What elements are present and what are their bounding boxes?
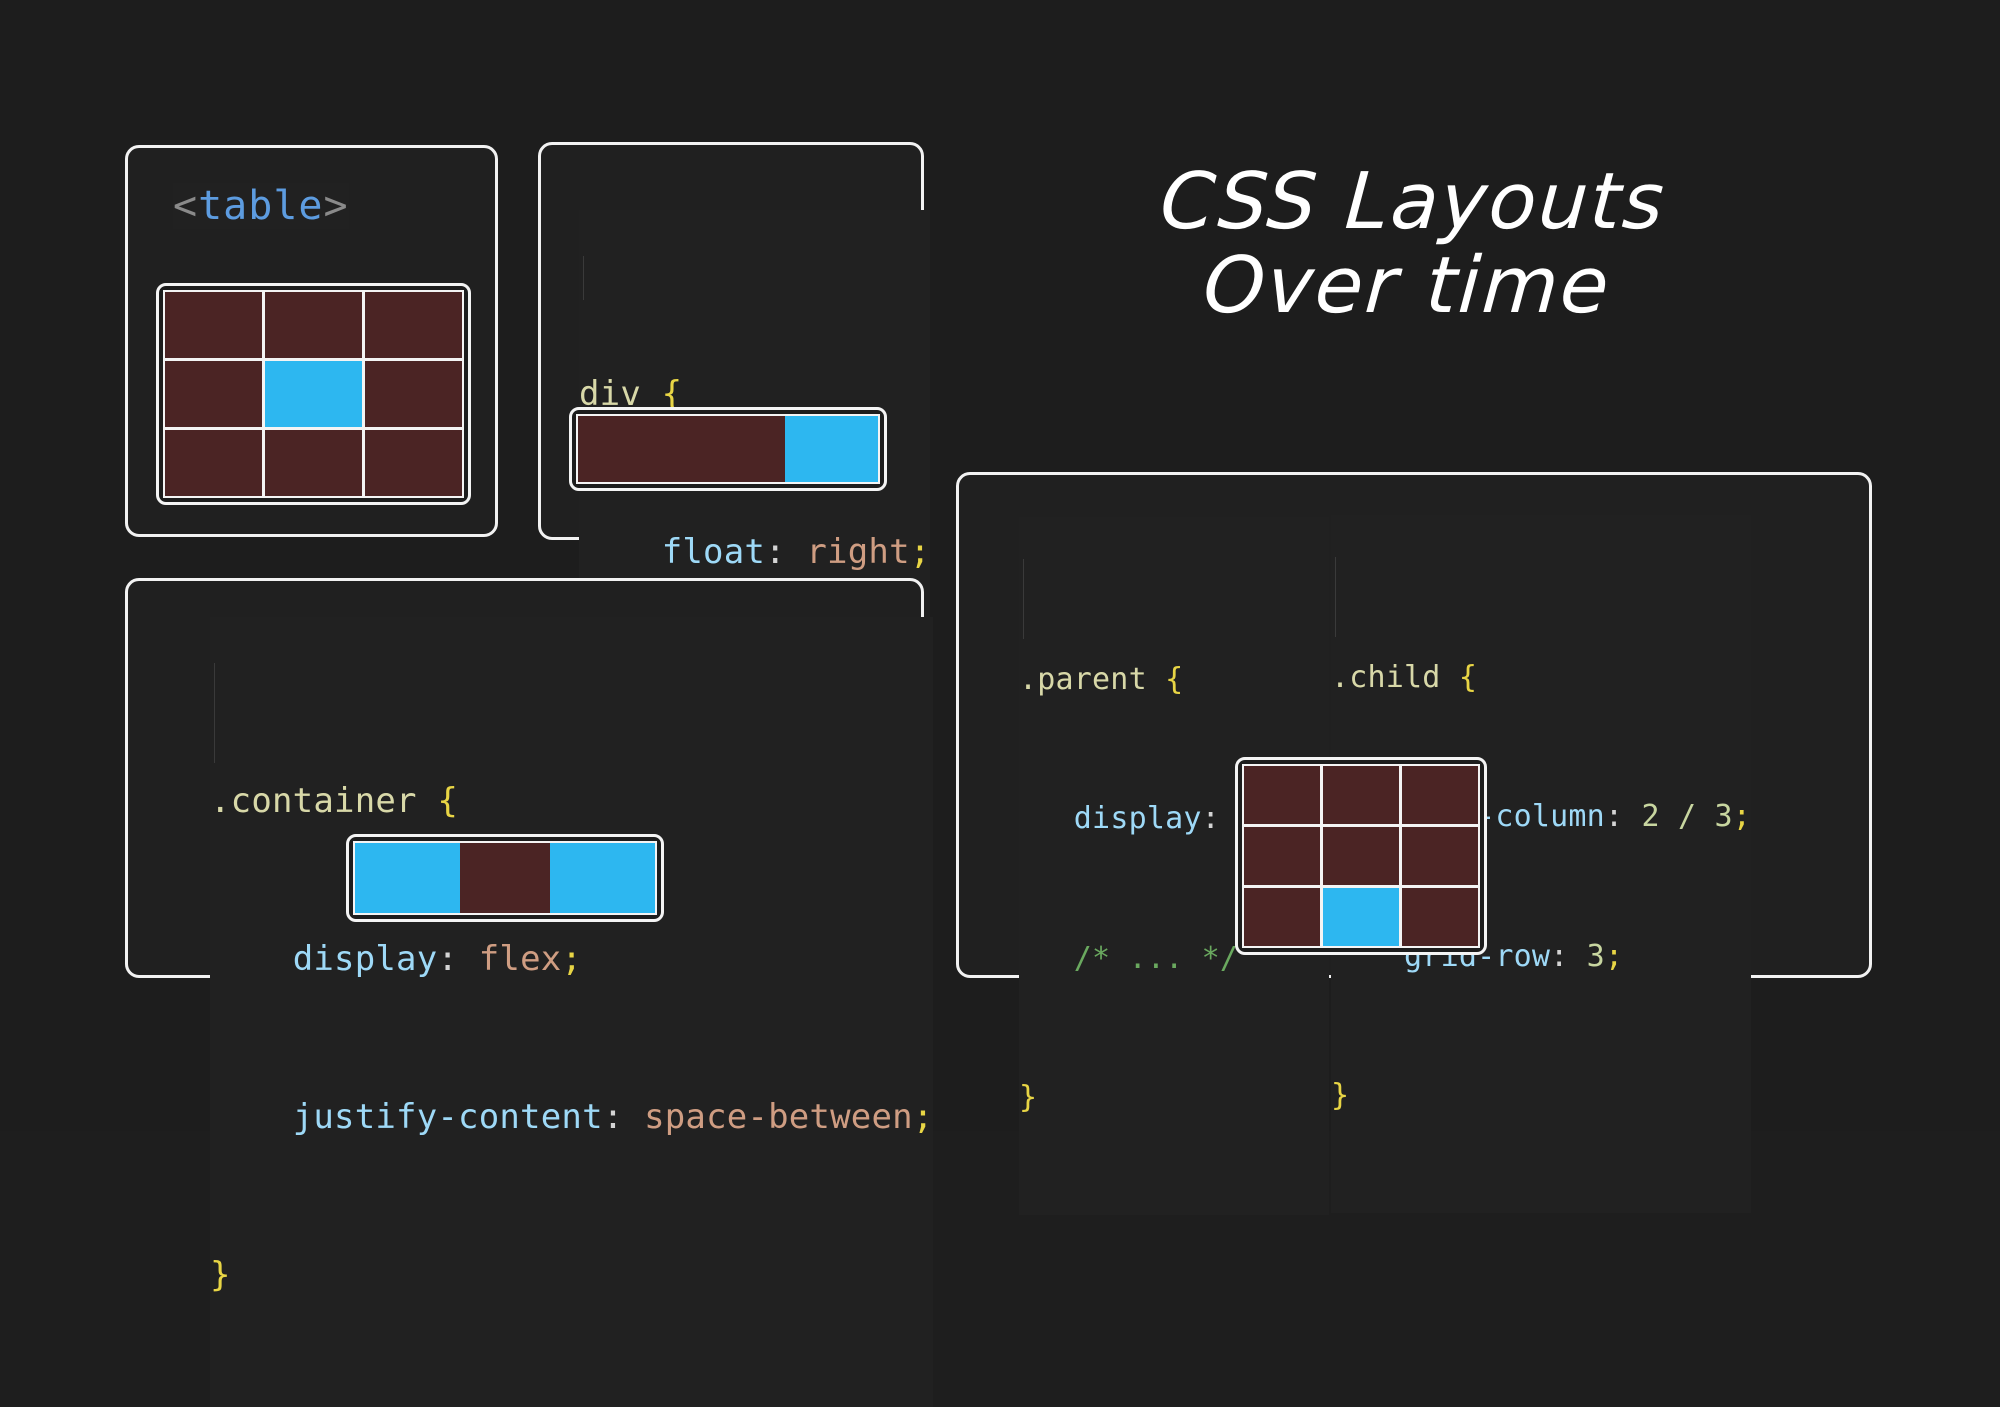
code-token-value: space-between bbox=[644, 1097, 913, 1137]
code-token-semicolon: ; bbox=[913, 1097, 934, 1137]
grid-cell bbox=[1244, 827, 1320, 885]
table-demo-grid bbox=[163, 290, 464, 498]
tag-open-bracket: < bbox=[173, 183, 198, 229]
code-line: .child { bbox=[1331, 655, 1751, 702]
flex-demo-container bbox=[353, 841, 657, 915]
grid-cell bbox=[1402, 888, 1478, 946]
page-title: CSS Layouts Over time bbox=[1034, 160, 1786, 328]
code-token-selector: .container bbox=[210, 781, 417, 821]
code-line: } bbox=[1019, 1075, 1329, 1122]
panel-grid: .parent { display: grid; /* ... */ } .ch… bbox=[956, 472, 1872, 978]
code-token-number: 3 bbox=[1587, 939, 1605, 974]
code-token-brace: { bbox=[1147, 662, 1184, 697]
grid-cell bbox=[1323, 827, 1399, 885]
indent-guide bbox=[1023, 559, 1024, 639]
code-token-brace-close: } bbox=[210, 1255, 231, 1295]
grid-demo-grid bbox=[1242, 764, 1480, 948]
code-line: display: flex; bbox=[210, 933, 933, 986]
float-demo-box bbox=[569, 407, 887, 491]
table-cell bbox=[365, 361, 462, 427]
table-cell bbox=[165, 430, 262, 496]
page-title-line1: CSS Layouts bbox=[1157, 157, 1668, 247]
float-demo-container bbox=[576, 414, 880, 484]
code-line: .parent { bbox=[1019, 657, 1329, 704]
code-token-value: flex bbox=[479, 939, 562, 979]
code-line: } bbox=[210, 1249, 933, 1302]
grid-cell bbox=[1402, 827, 1478, 885]
grid-cell bbox=[1323, 766, 1399, 824]
flex-code-block: .container { display: flex; justify-cont… bbox=[210, 617, 933, 1407]
table-cell bbox=[165, 292, 262, 358]
table-cell bbox=[265, 430, 362, 496]
table-cell bbox=[265, 292, 362, 358]
code-token-brace: { bbox=[417, 781, 458, 821]
table-cell bbox=[365, 430, 462, 496]
code-token-selector: .parent bbox=[1019, 662, 1147, 697]
code-token-semicolon: ; bbox=[1605, 939, 1623, 974]
float-demo-floated-box bbox=[785, 416, 878, 482]
grid-cell bbox=[1244, 766, 1320, 824]
code-token-property: display bbox=[293, 939, 438, 979]
code-token-number: 2 / 3 bbox=[1641, 799, 1732, 834]
grid-cell bbox=[1402, 766, 1478, 824]
table-cell bbox=[165, 361, 262, 427]
table-demo-box bbox=[156, 283, 471, 505]
code-token-colon: : bbox=[765, 532, 806, 572]
grid-cell-highlighted bbox=[1323, 888, 1399, 946]
code-token-colon: : bbox=[1605, 799, 1642, 834]
table-cell-highlighted bbox=[265, 361, 362, 427]
panel-flex: .container { display: flex; justify-cont… bbox=[125, 578, 924, 978]
code-token-brace: { bbox=[1441, 660, 1478, 695]
code-line: justify-content: space-between; bbox=[210, 1091, 933, 1144]
panel-table: <table> bbox=[125, 145, 498, 537]
code-token-semicolon: ; bbox=[910, 532, 931, 572]
flex-demo-item bbox=[355, 843, 460, 913]
slide-canvas: <table> div { float: right; } bbox=[0, 0, 2000, 1131]
flex-demo-box bbox=[346, 834, 664, 922]
code-token-brace-close: } bbox=[1019, 1080, 1037, 1115]
code-token-comment: /* ... */ bbox=[1074, 941, 1238, 976]
panel-float: div { float: right; } bbox=[538, 142, 924, 540]
page-title-line2: Over time bbox=[1034, 244, 1780, 328]
code-token-colon: : bbox=[1202, 801, 1239, 836]
code-line: float: right; bbox=[579, 526, 930, 579]
tag-close-bracket: > bbox=[324, 183, 349, 229]
indent-guide bbox=[1335, 557, 1336, 637]
code-line: } bbox=[1331, 1073, 1751, 1120]
table-tag-title: <table> bbox=[173, 183, 349, 229]
tag-name-label: table bbox=[198, 183, 323, 229]
indent-guide bbox=[214, 663, 215, 763]
code-token-colon: : bbox=[603, 1097, 644, 1137]
grid-demo-box bbox=[1235, 757, 1487, 955]
code-token-property: justify-content bbox=[293, 1097, 603, 1137]
grid-cell bbox=[1244, 888, 1320, 946]
code-token-colon: : bbox=[437, 939, 478, 979]
code-token-selector: .child bbox=[1331, 660, 1441, 695]
code-line: .container { bbox=[210, 775, 933, 828]
code-token-value: right bbox=[806, 532, 909, 572]
code-token-property: display bbox=[1074, 801, 1202, 836]
table-cell bbox=[365, 292, 462, 358]
indent-guide bbox=[583, 256, 584, 300]
code-token-brace-close: } bbox=[1331, 1078, 1349, 1113]
code-token-property: float bbox=[662, 532, 765, 572]
code-token-semicolon: ; bbox=[561, 939, 582, 979]
code-token-colon: : bbox=[1550, 939, 1587, 974]
code-token-semicolon: ; bbox=[1733, 799, 1751, 834]
flex-demo-item bbox=[550, 843, 655, 913]
